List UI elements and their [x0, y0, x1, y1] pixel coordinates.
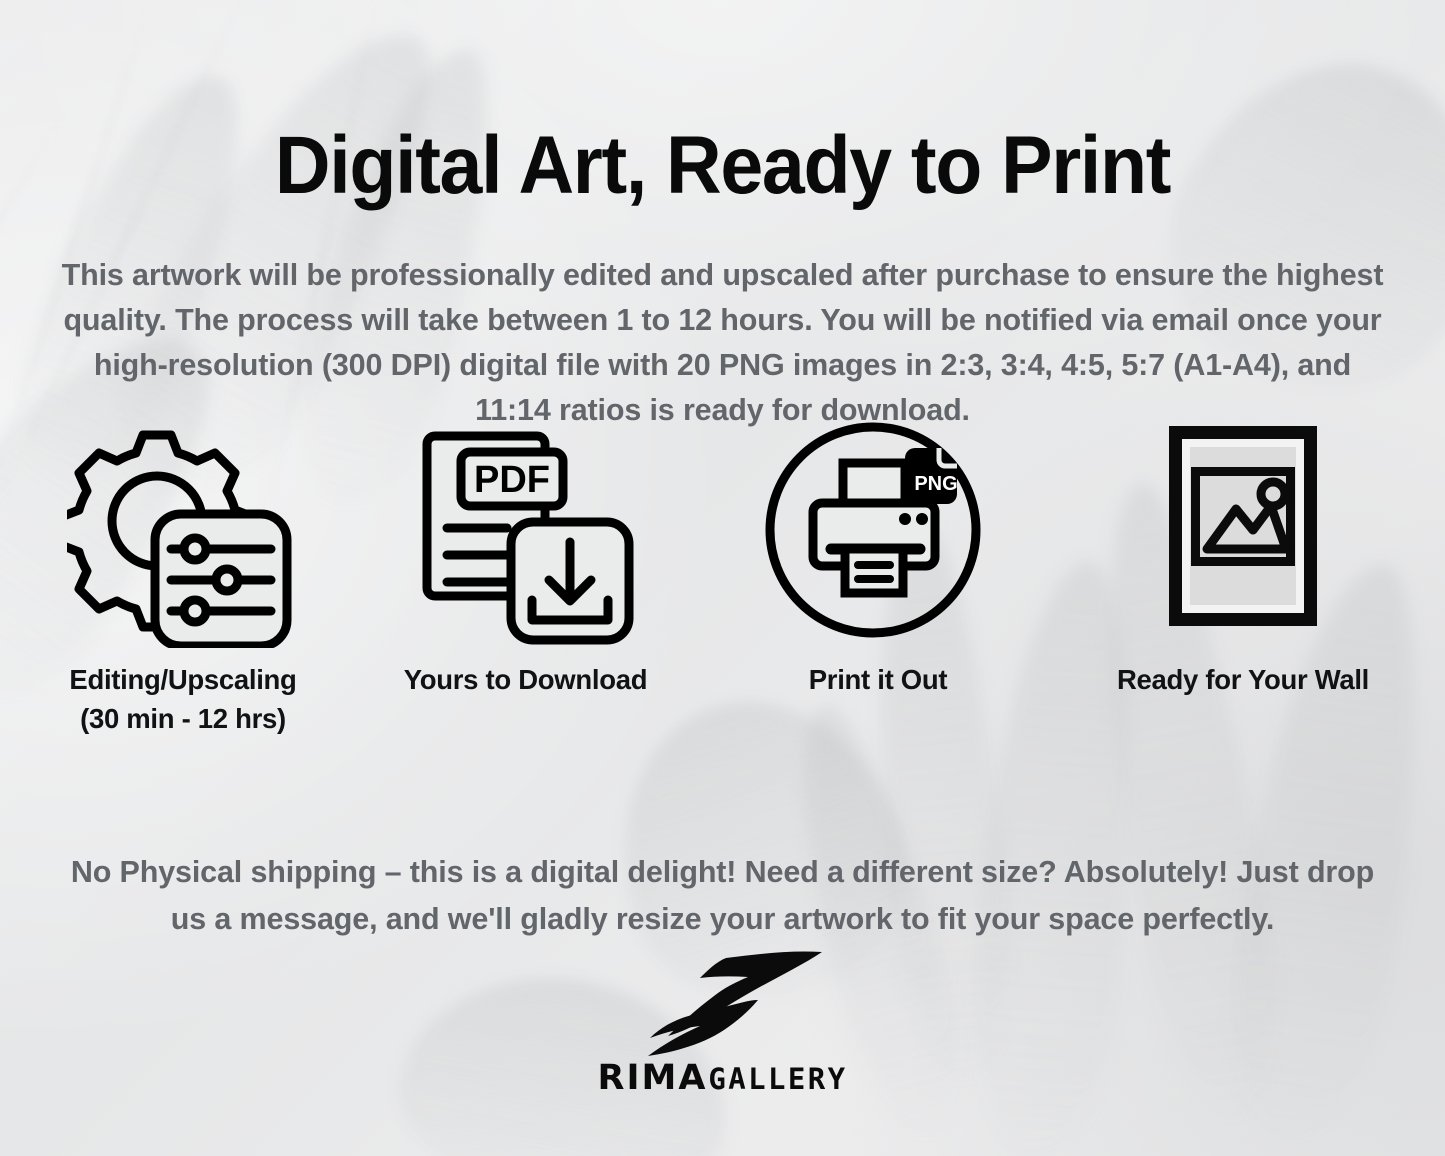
feature-icon-wrap: [1163, 418, 1323, 648]
printer-circle-icon: PNG: [765, 418, 991, 648]
outro-paragraph: No Physical shipping – this is a digital…: [53, 849, 1393, 944]
png-badge-label: PNG: [914, 473, 957, 495]
feature-editing-upscaling: Editing/Upscaling (30 min - 12 hrs): [8, 418, 358, 738]
feature-ready-for-your-wall: Ready for Your Wall: [1063, 418, 1423, 699]
feature-row: Editing/Upscaling (30 min - 12 hrs): [0, 418, 1445, 738]
gear-sliders-icon: [67, 418, 299, 648]
rima-swoosh-icon: [608, 948, 838, 1060]
feature-icon-wrap: PNG: [765, 418, 991, 648]
feature-label-print-it-out: Print it Out: [809, 660, 947, 699]
pdf-download-icon: PDF: [415, 418, 637, 648]
feature-label-editing-upscaling: Editing/Upscaling (30 min - 12 hrs): [69, 660, 296, 738]
promo-graphic: Digital Art, Ready to Print This artwork…: [0, 0, 1445, 1156]
feature-print-it-out: PNG Print it Out: [693, 418, 1063, 699]
brand-logo: RIMA GALLERY: [553, 948, 893, 1098]
intro-paragraph: This artwork will be professionally edit…: [53, 253, 1393, 434]
feature-yours-to-download: PDF Yours to Download: [358, 418, 693, 699]
feature-label-ready-for-your-wall: Ready for Your Wall: [1117, 660, 1369, 699]
feature-icon-wrap: PDF: [415, 418, 637, 648]
feature-label-yours-to-download: Yours to Download: [404, 660, 647, 699]
feature-icon-wrap: [67, 418, 299, 648]
brand-wordmark: RIMA GALLERY: [598, 1058, 848, 1098]
brand-name-primary: RIMA: [598, 1058, 708, 1098]
brand-name-secondary: GALLERY: [708, 1062, 847, 1096]
framed-picture-icon: [1163, 418, 1323, 648]
page-title: Digital Art, Ready to Print: [43, 125, 1401, 207]
pdf-badge-label: PDF: [474, 459, 550, 501]
